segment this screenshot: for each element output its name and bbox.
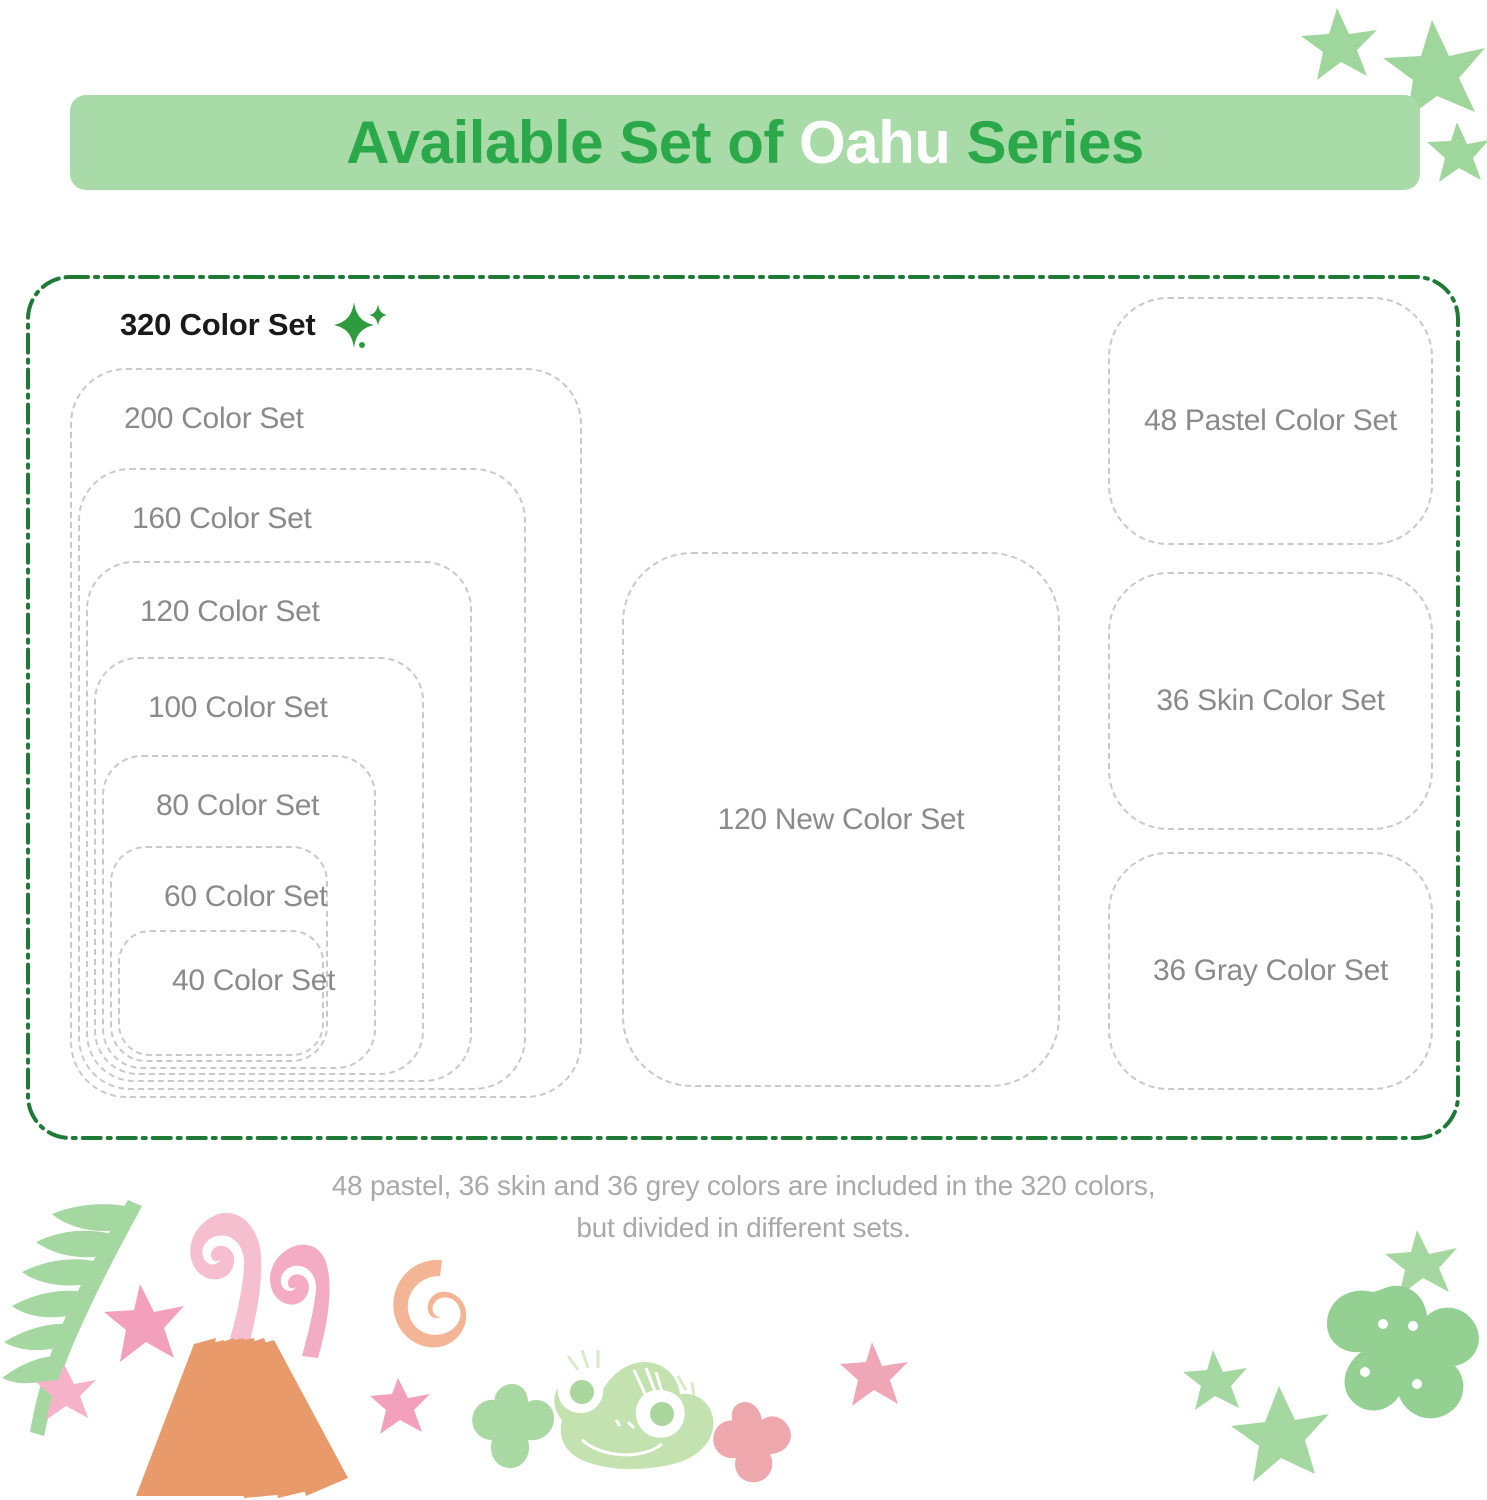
hula-skirt-icon — [136, 1338, 348, 1498]
page-title-highlight: Oahu — [799, 109, 950, 176]
main-set-label-group: 320 Color Set — [120, 300, 388, 350]
set-box-120-new[interactable]: 120 New Color Set — [622, 552, 1060, 1087]
set-label-36-gray: 36 Gray Color Set — [1153, 954, 1388, 988]
sparkle-icon — [332, 300, 388, 350]
set-label-120-new: 120 New Color Set — [718, 803, 965, 837]
set-label-160: 160 Color Set — [132, 502, 312, 536]
page-title-part-1: Available Set of — [346, 109, 799, 176]
page-title-bar: Available Set of Oahu Series — [70, 95, 1420, 190]
hibiscus-flower-icon — [1327, 1286, 1479, 1419]
star-icon — [1427, 122, 1487, 182]
swirl-icon — [270, 1245, 330, 1358]
star-icon — [370, 1378, 430, 1434]
decoration-bottom-center — [520, 1300, 940, 1500]
footnote-line-2: but divided in different sets. — [0, 1207, 1487, 1249]
star-icon — [1183, 1350, 1247, 1410]
set-label-48-pastel: 48 Pastel Color Set — [1144, 404, 1397, 438]
set-box-48-pastel[interactable]: 48 Pastel Color Set — [1108, 297, 1433, 545]
page-title-part-2: Series — [950, 109, 1143, 176]
set-label-60: 60 Color Set — [164, 880, 327, 914]
gecko-icon — [554, 1350, 713, 1469]
page-title: Available Set of Oahu Series — [346, 108, 1143, 177]
set-label-40: 40 Color Set — [172, 964, 335, 998]
set-label-100: 100 Color Set — [148, 691, 328, 725]
set-box-40[interactable]: 40 Color Set — [118, 930, 324, 1056]
set-label-120: 120 Color Set — [140, 595, 320, 629]
flower-icon — [713, 1402, 791, 1482]
footnote-line-1: 48 pastel, 36 skin and 36 grey colors ar… — [0, 1165, 1487, 1207]
star-icon — [1231, 1386, 1329, 1482]
set-label-36-skin: 36 Skin Color Set — [1156, 684, 1384, 718]
main-set-label: 320 Color Set — [120, 307, 316, 343]
star-icon — [840, 1342, 908, 1406]
star-icon — [1301, 8, 1377, 80]
set-box-36-gray[interactable]: 36 Gray Color Set — [1108, 852, 1433, 1090]
shell-icon — [393, 1260, 466, 1348]
set-box-36-skin[interactable]: 36 Skin Color Set — [1108, 572, 1433, 830]
set-label-80: 80 Color Set — [156, 789, 319, 823]
decoration-bottom-right — [1167, 1230, 1487, 1500]
star-icon — [36, 1364, 96, 1420]
star-icon — [104, 1284, 184, 1362]
footnote: 48 pastel, 36 skin and 36 grey colors ar… — [0, 1165, 1487, 1249]
flower-icon — [472, 1384, 554, 1468]
set-label-200: 200 Color Set — [124, 402, 304, 436]
